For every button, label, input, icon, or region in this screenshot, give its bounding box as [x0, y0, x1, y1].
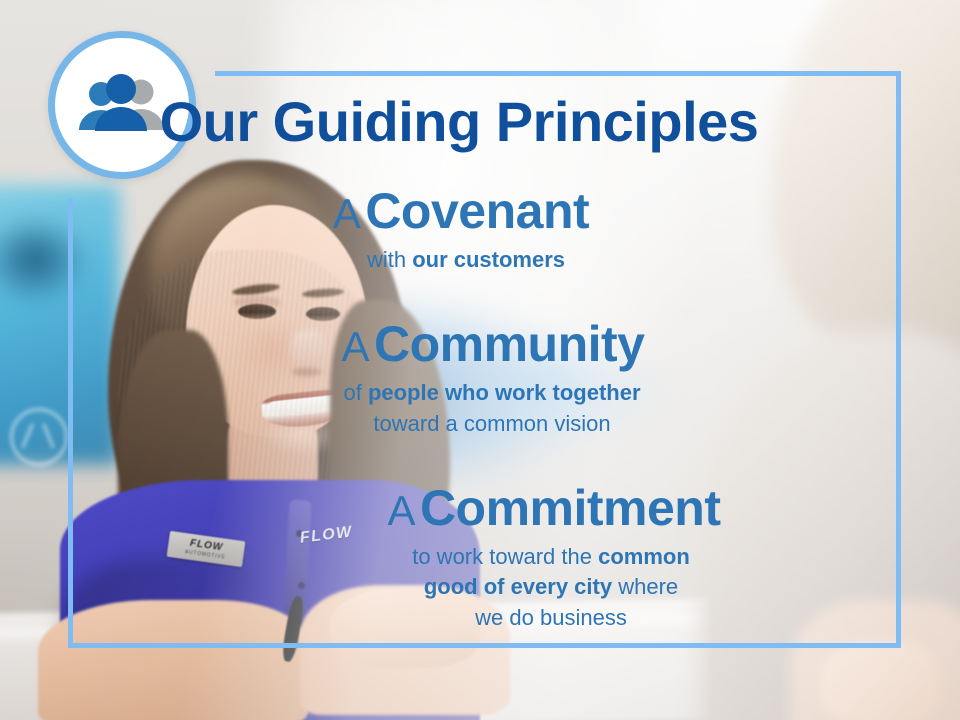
principle-subtext: to work toward the common good of every … — [0, 542, 922, 633]
principle-subtext-line: of people who work together — [62, 378, 922, 408]
page-title: Our Guiding Principles — [0, 94, 960, 150]
principle-subtext-part-bold: good of every city — [424, 574, 612, 599]
principle-subtext-part-bold: our customers — [412, 247, 565, 272]
principle-subtext-part: of — [343, 380, 367, 405]
principle-subtext-part: with — [367, 247, 412, 272]
principle-keyword: Covenant — [365, 183, 589, 239]
customer-hand — [820, 640, 940, 720]
principle-subtext-line: we do business — [180, 603, 922, 633]
principle-heading: A Community — [0, 319, 922, 370]
principle-keyword: Community — [374, 316, 645, 372]
principle-subtext-line: toward a common vision — [62, 409, 922, 439]
principle-item-community: A Community of people who work together … — [0, 319, 922, 439]
principle-subtext-part: to work toward the — [412, 544, 598, 569]
principle-subtext: with our customers — [0, 245, 922, 275]
principles-list: A Covenant with our customers A Communit… — [0, 186, 922, 633]
principle-subtext-part-bold: people who work together — [368, 380, 641, 405]
principle-subtext-line: to work toward the common — [180, 542, 922, 572]
principle-subtext: of people who work together toward a com… — [0, 378, 922, 439]
principle-keyword: Commitment — [420, 480, 721, 536]
principle-heading: A Commitment — [0, 483, 922, 534]
principle-subtext-part: where — [612, 574, 678, 599]
principle-item-commitment: A Commitment to work toward the common g… — [0, 483, 922, 633]
guiding-principles-poster: FLOW AUTOMOTIVE FLOW — [0, 0, 960, 720]
principle-heading: A Covenant — [0, 186, 922, 237]
principle-subtext-line: good of every city where — [180, 572, 922, 602]
principle-subtext-part-bold: common — [598, 544, 690, 569]
principle-article: A — [333, 190, 361, 237]
principle-item-covenant: A Covenant with our customers — [0, 186, 922, 275]
principle-article: A — [387, 487, 415, 534]
principle-article: A — [342, 323, 370, 370]
